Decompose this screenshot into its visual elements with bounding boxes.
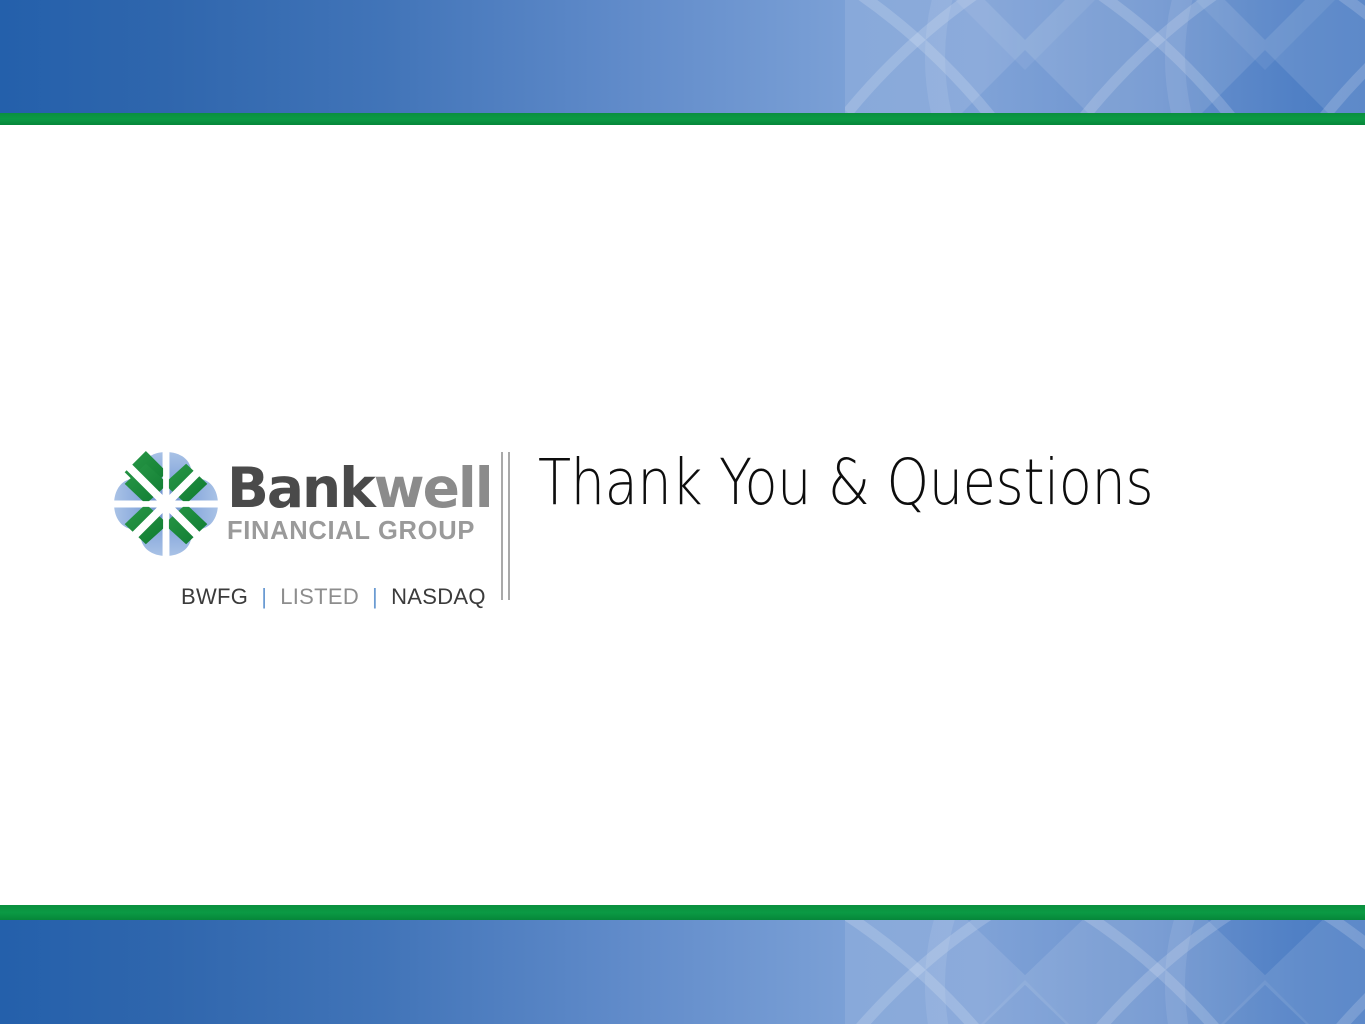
- vertical-divider: [498, 452, 515, 600]
- logo-primary-row: Bankwell FINANCIAL GROUP: [113, 450, 488, 558]
- logo-title-lockup: Bankwell FINANCIAL GROUP BWFG | LISTED |…: [113, 450, 1253, 610]
- header-watermark: [845, 0, 1365, 113]
- bankwell-four-petal-mark-icon: [113, 451, 219, 557]
- divider-rule-right: [508, 452, 510, 600]
- slide-title: Thank You & Questions: [538, 450, 1153, 516]
- logo-tagline: FINANCIAL GROUP: [227, 517, 492, 545]
- divider-rule-left: [501, 452, 503, 600]
- ticker-exchange: NASDAQ: [391, 584, 486, 610]
- logo-ticker-line: BWFG | LISTED | NASDAQ: [181, 584, 488, 610]
- logo-wordmark-secondary: well: [374, 456, 492, 520]
- header-blue-gradient: [0, 0, 1365, 113]
- logo-wordmark: Bankwell: [227, 463, 492, 515]
- header-green-accent-stripe: [0, 113, 1365, 125]
- bankwell-logo: Bankwell FINANCIAL GROUP BWFG | LISTED |…: [113, 450, 488, 610]
- footer-watermark: [845, 920, 1365, 1024]
- logo-wordmark-primary: Bank: [227, 456, 374, 520]
- ticker-separator-1: |: [261, 584, 267, 610]
- presentation-slide: Bankwell FINANCIAL GROUP BWFG | LISTED |…: [0, 0, 1365, 1024]
- logo-wordmark-group: Bankwell FINANCIAL GROUP: [227, 463, 492, 545]
- slide-header-band: [0, 0, 1365, 125]
- footer-blue-gradient: [0, 920, 1365, 1024]
- slide-body: Bankwell FINANCIAL GROUP BWFG | LISTED |…: [0, 125, 1365, 905]
- footer-green-accent-stripe: [0, 905, 1365, 920]
- ticker-separator-2: |: [372, 584, 378, 610]
- slide-footer-band: [0, 905, 1365, 1024]
- ticker-symbol: BWFG: [181, 584, 248, 610]
- ticker-status: LISTED: [280, 584, 359, 610]
